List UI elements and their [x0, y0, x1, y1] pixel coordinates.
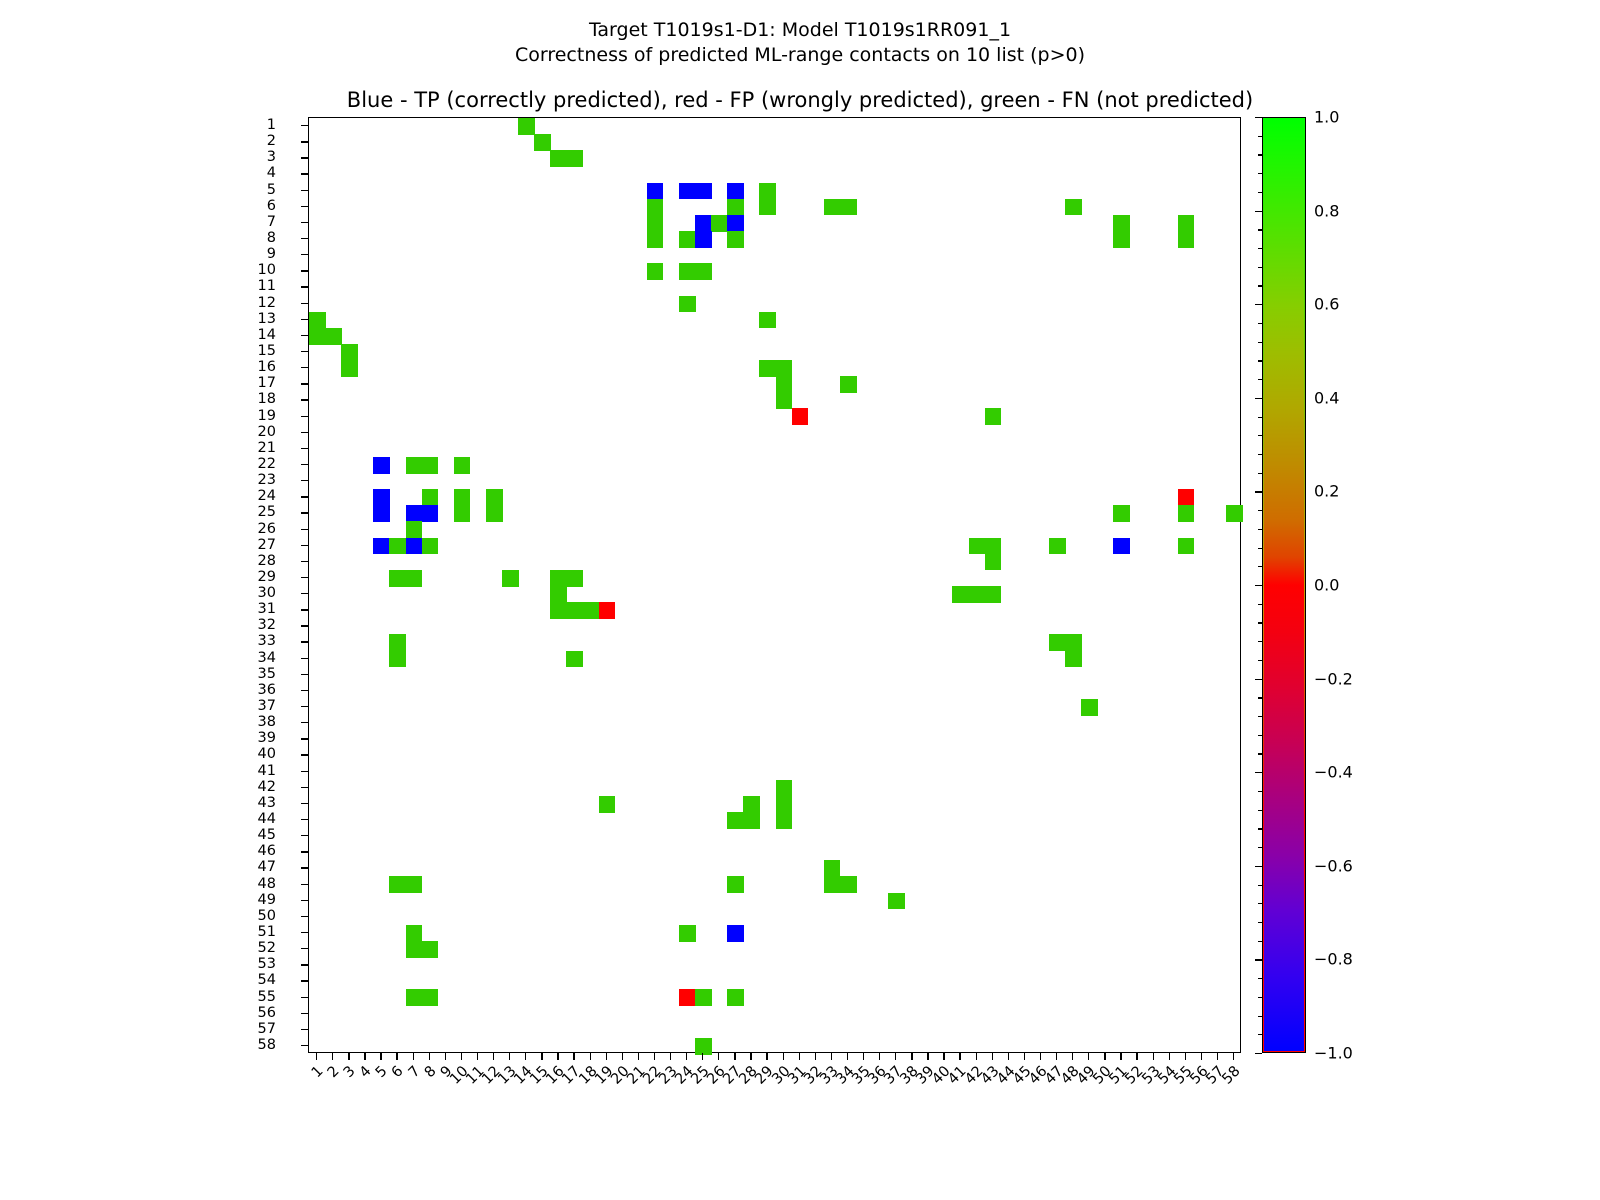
- x-tick-mark: [976, 1053, 977, 1060]
- y-tick-label: 3: [267, 150, 276, 164]
- heatmap-cell: [1178, 489, 1195, 506]
- heatmap-cell: [776, 392, 793, 409]
- colorbar-tick-mark: [1255, 679, 1262, 680]
- y-tick-label: 31: [258, 602, 276, 616]
- y-axis: 1234567891011121314151617181920212223242…: [0, 117, 308, 1053]
- heatmap-cell: [422, 538, 439, 555]
- colorbar-minor-tick: [1258, 791, 1262, 792]
- y-tick-label: 21: [258, 441, 276, 455]
- heatmap-cell: [1081, 699, 1098, 716]
- x-tick-mark: [847, 1053, 848, 1060]
- x-tick-mark: [1169, 1053, 1170, 1060]
- x-tick-mark: [702, 1053, 703, 1060]
- x-tick-mark: [413, 1053, 414, 1060]
- x-tick-mark: [1201, 1053, 1202, 1060]
- x-tick-mark: [1120, 1053, 1121, 1060]
- legend-description: Blue - TP (correctly predicted), red - F…: [0, 88, 1600, 112]
- y-tick-mark: [301, 448, 308, 449]
- y-tick-label: 56: [258, 1006, 276, 1020]
- colorbar-tick-label: 0.6: [1314, 295, 1339, 314]
- heatmap-cell: [824, 860, 841, 877]
- heatmap-cell: [550, 150, 567, 167]
- y-tick-mark: [301, 303, 308, 304]
- heatmap-cell: [647, 199, 664, 216]
- y-tick-label: 14: [258, 328, 276, 342]
- colorbar-tick-label: 1.0: [1314, 108, 1339, 127]
- heatmap-cell: [840, 876, 857, 893]
- colorbar-minor-tick: [1258, 941, 1262, 942]
- colorbar-minor-tick: [1258, 697, 1262, 698]
- colorbar-minor-tick: [1258, 660, 1262, 661]
- y-tick-label: 23: [258, 473, 276, 487]
- x-tick-mark: [1072, 1053, 1073, 1060]
- colorbar-tick-mark: [1255, 959, 1262, 960]
- x-tick-label: 8: [422, 1064, 438, 1080]
- x-tick-mark: [509, 1053, 510, 1060]
- heatmap-cell: [341, 360, 358, 377]
- heatmap-cell: [582, 602, 599, 619]
- x-tick-mark: [493, 1053, 494, 1060]
- y-tick-mark: [301, 625, 308, 626]
- x-tick-mark: [1056, 1053, 1057, 1060]
- x-tick-mark: [943, 1053, 944, 1060]
- y-tick-mark: [301, 480, 308, 481]
- y-tick-label: 51: [258, 925, 276, 939]
- y-tick-mark: [301, 867, 308, 868]
- heatmap-cell: [454, 505, 471, 522]
- heatmap-cell: [1065, 199, 1082, 216]
- colorbar-minor-tick: [1258, 136, 1262, 137]
- heatmap-cell: [1178, 231, 1195, 248]
- colorbar-minor-tick: [1258, 828, 1262, 829]
- colorbar-tick-mark: [1255, 117, 1262, 118]
- heatmap-cell: [325, 328, 342, 345]
- y-tick-label: 36: [258, 683, 276, 697]
- y-tick-mark: [301, 641, 308, 642]
- heatmap-cell: [550, 586, 567, 603]
- x-tick-mark: [766, 1053, 767, 1060]
- x-tick-mark: [1024, 1053, 1025, 1060]
- colorbar-minor-tick: [1258, 997, 1262, 998]
- y-tick-label: 5: [267, 183, 276, 197]
- y-tick-mark: [301, 609, 308, 610]
- heatmap-cell: [1049, 538, 1066, 555]
- y-tick-mark: [301, 545, 308, 546]
- colorbar-tick-mark: [1255, 398, 1262, 399]
- x-tick-mark: [364, 1053, 365, 1060]
- y-tick-label: 42: [258, 780, 276, 794]
- y-tick-label: 50: [258, 909, 276, 923]
- colorbar-minor-tick: [1258, 360, 1262, 361]
- y-tick-label: 4: [267, 166, 276, 180]
- y-tick-label: 40: [258, 747, 276, 761]
- y-tick-mark: [301, 464, 308, 465]
- heatmap-cell: [422, 941, 439, 958]
- colorbar-minor-tick: [1258, 735, 1262, 736]
- y-tick-mark: [301, 190, 308, 191]
- x-tick-mark: [1104, 1053, 1105, 1060]
- heatmap-cell: [422, 505, 439, 522]
- x-tick-mark: [622, 1053, 623, 1060]
- heatmap-cell: [695, 263, 712, 280]
- x-tick-mark: [525, 1053, 526, 1060]
- heatmap-cell: [985, 538, 1002, 555]
- colorbar-minor-tick: [1258, 1034, 1262, 1035]
- heatmap-cell: [566, 651, 583, 668]
- heatmap-cell: [695, 215, 712, 232]
- heatmap-cell: [776, 812, 793, 829]
- y-tick-mark: [301, 561, 308, 562]
- heatmap-cell: [679, 296, 696, 313]
- colorbar-minor-tick: [1258, 548, 1262, 549]
- y-tick-mark: [301, 141, 308, 142]
- x-tick-label: 6: [390, 1064, 406, 1080]
- colorbar-minor-tick: [1258, 753, 1262, 754]
- heatmap-cell: [776, 360, 793, 377]
- x-tick-mark: [1185, 1053, 1186, 1060]
- x-tick-label: 5: [374, 1064, 390, 1080]
- heatmap-cell: [373, 538, 390, 555]
- x-tick-mark: [1217, 1053, 1218, 1060]
- y-tick-mark: [301, 125, 308, 126]
- y-tick-mark: [301, 1045, 308, 1046]
- y-tick-mark: [301, 529, 308, 530]
- title-line-1: Target T1019s1-D1: Model T1019s1RR091_1: [0, 18, 1600, 43]
- x-tick-mark: [316, 1053, 317, 1060]
- heatmap-cell: [406, 457, 423, 474]
- y-tick-mark: [301, 1029, 308, 1030]
- x-tick-mark: [1088, 1053, 1089, 1060]
- y-tick-mark: [301, 819, 308, 820]
- y-tick-label: 8: [267, 231, 276, 245]
- y-tick-mark: [301, 964, 308, 965]
- y-tick-label: 1: [267, 118, 276, 132]
- y-tick-label: 35: [258, 667, 276, 681]
- colorbar-minor-tick: [1258, 903, 1262, 904]
- colorbar-tick-mark: [1255, 304, 1262, 305]
- colorbar-tick-label: −0.2: [1314, 669, 1353, 688]
- heatmap-cell: [952, 586, 969, 603]
- y-tick-label: 29: [258, 570, 276, 584]
- heatmap-cell: [550, 570, 567, 587]
- heatmap-cell: [406, 521, 423, 538]
- colorbar-minor-tick: [1258, 922, 1262, 923]
- x-tick-mark: [654, 1053, 655, 1060]
- heatmap-cell: [389, 651, 406, 668]
- heatmap-cell: [679, 925, 696, 942]
- heatmap-cell: [840, 199, 857, 216]
- colorbar-minor-tick: [1258, 192, 1262, 193]
- heatmap-cell: [727, 231, 744, 248]
- x-tick-label: 7: [406, 1064, 422, 1080]
- x-tick-mark: [590, 1053, 591, 1060]
- heatmap-cell: [406, 570, 423, 587]
- heatmap-cell: [422, 457, 439, 474]
- y-tick-label: 53: [258, 957, 276, 971]
- heatmap-cell: [341, 344, 358, 361]
- heatmap-cell: [679, 183, 696, 200]
- y-tick-label: 41: [258, 764, 276, 778]
- x-tick-mark: [734, 1053, 735, 1060]
- y-tick-mark: [301, 771, 308, 772]
- heatmap-cell: [406, 925, 423, 942]
- heatmap-cell: [776, 796, 793, 813]
- y-tick-label: 38: [258, 715, 276, 729]
- colorbar-minor-tick: [1258, 622, 1262, 623]
- colorbar-tick-label: 0.8: [1314, 201, 1339, 220]
- heatmap-cell: [985, 586, 1002, 603]
- heatmap-cell: [888, 893, 905, 910]
- y-tick-label: 16: [258, 360, 276, 374]
- y-tick-label: 28: [258, 554, 276, 568]
- colorbar-tick-mark: [1255, 866, 1262, 867]
- heatmap-cell: [599, 602, 616, 619]
- colorbar-minor-tick: [1258, 473, 1262, 474]
- y-tick-label: 32: [258, 618, 276, 632]
- x-tick-label: 2: [326, 1064, 342, 1080]
- heatmap-cell: [309, 328, 326, 345]
- y-tick-mark: [301, 851, 308, 852]
- heatmap-cell: [373, 489, 390, 506]
- x-tick-mark: [396, 1053, 397, 1060]
- y-tick-mark: [301, 787, 308, 788]
- colorbar-minor-tick: [1258, 604, 1262, 605]
- heatmap-cell: [985, 408, 1002, 425]
- chart-title-block: Target T1019s1-D1: Model T1019s1RR091_1 …: [0, 18, 1600, 68]
- x-tick-label: 58: [1220, 1064, 1243, 1087]
- colorbar-minor-tick: [1258, 323, 1262, 324]
- y-tick-label: 7: [267, 215, 276, 229]
- colorbar: 1.00.80.60.40.20.0−0.2−0.4−0.6−0.8−1.0: [1262, 117, 1306, 1053]
- y-tick-mark: [301, 157, 308, 158]
- x-tick-mark: [831, 1053, 832, 1060]
- heatmap-cell: [727, 215, 744, 232]
- x-tick-mark: [638, 1053, 639, 1060]
- heatmap-cell: [727, 199, 744, 216]
- y-tick-mark: [301, 254, 308, 255]
- heatmap-cell: [373, 505, 390, 522]
- colorbar-tick-label: 0.0: [1314, 576, 1339, 595]
- y-tick-label: 49: [258, 893, 276, 907]
- colorbar-tick-mark: [1255, 585, 1262, 586]
- heatmap-cells: [309, 118, 1240, 1052]
- heatmap-cell: [1065, 634, 1082, 651]
- y-tick-label: 12: [258, 296, 276, 310]
- y-tick-label: 9: [267, 247, 276, 261]
- x-tick-mark: [1153, 1053, 1154, 1060]
- heatmap-cell: [1113, 231, 1130, 248]
- y-tick-label: 18: [258, 392, 276, 406]
- y-tick-label: 13: [258, 312, 276, 326]
- y-tick-mark: [301, 754, 308, 755]
- x-tick-mark: [1136, 1053, 1137, 1060]
- y-tick-label: 22: [258, 457, 276, 471]
- y-tick-mark: [301, 512, 308, 513]
- colorbar-minor-tick: [1258, 641, 1262, 642]
- heatmap-cell: [454, 457, 471, 474]
- heatmap-cell: [389, 876, 406, 893]
- y-tick-mark: [301, 997, 308, 998]
- y-tick-label: 57: [258, 1022, 276, 1036]
- colorbar-tick-label: −1.0: [1314, 1044, 1353, 1063]
- y-tick-label: 54: [258, 973, 276, 987]
- y-tick-label: 43: [258, 796, 276, 810]
- heatmap-cell: [792, 408, 809, 425]
- heatmap-cell: [389, 634, 406, 651]
- colorbar-minor-tick: [1258, 154, 1262, 155]
- heatmap-cell: [679, 989, 696, 1006]
- y-tick-mark: [301, 432, 308, 433]
- heatmap-cell: [502, 570, 519, 587]
- heatmap-cell: [776, 376, 793, 393]
- y-tick-mark: [301, 1013, 308, 1014]
- y-tick-mark: [301, 222, 308, 223]
- heatmap-cell: [454, 489, 471, 506]
- heatmap-cell: [985, 554, 1002, 571]
- title-line-2: Correctness of predicted ML-range contac…: [0, 43, 1600, 68]
- y-tick-mark: [301, 658, 308, 659]
- heatmap-cell: [406, 876, 423, 893]
- x-tick-mark: [606, 1053, 607, 1060]
- x-tick-mark: [557, 1053, 558, 1060]
- heatmap-cell: [727, 876, 744, 893]
- y-tick-label: 27: [258, 538, 276, 552]
- heatmap-cell: [309, 312, 326, 329]
- colorbar-minor-tick: [1258, 342, 1262, 343]
- y-tick-mark: [301, 690, 308, 691]
- colorbar-minor-tick: [1258, 454, 1262, 455]
- heatmap-cell: [679, 231, 696, 248]
- y-tick-mark: [301, 206, 308, 207]
- y-tick-mark: [301, 399, 308, 400]
- heatmap-cell: [759, 183, 776, 200]
- colorbar-tick-label: −0.6: [1314, 856, 1353, 875]
- y-tick-label: 26: [258, 522, 276, 536]
- colorbar-minor-tick: [1258, 229, 1262, 230]
- heatmap-cell: [373, 457, 390, 474]
- colorbar-minor-tick: [1258, 810, 1262, 811]
- y-tick-mark: [301, 416, 308, 417]
- heatmap-cell: [727, 989, 744, 1006]
- x-tick-mark: [959, 1053, 960, 1060]
- heatmap-cell: [1049, 634, 1066, 651]
- heatmap-cell: [679, 263, 696, 280]
- y-tick-mark: [301, 319, 308, 320]
- x-tick-mark: [1008, 1053, 1009, 1060]
- colorbar-minor-tick: [1258, 529, 1262, 530]
- heatmap-cell: [599, 796, 616, 813]
- y-tick-label: 17: [258, 376, 276, 390]
- y-tick-label: 30: [258, 586, 276, 600]
- colorbar-minor-tick: [1258, 379, 1262, 380]
- heatmap-cell: [406, 538, 423, 555]
- x-tick-mark: [992, 1053, 993, 1060]
- y-tick-mark: [301, 948, 308, 949]
- heatmap-cell: [776, 780, 793, 797]
- heatmap-cell: [695, 231, 712, 248]
- y-tick-label: 44: [258, 812, 276, 826]
- x-tick-label: 4: [358, 1064, 374, 1080]
- x-tick-mark: [380, 1053, 381, 1060]
- heatmap-cell: [1178, 215, 1195, 232]
- y-tick-mark: [301, 932, 308, 933]
- y-tick-label: 55: [258, 990, 276, 1004]
- heatmap-cell: [647, 231, 664, 248]
- x-axis: 1234567891011121314151617181920212223242…: [308, 1053, 1241, 1200]
- colorbar-minor-tick: [1258, 978, 1262, 979]
- colorbar-minor-tick: [1258, 716, 1262, 717]
- colorbar-tick-mark: [1255, 211, 1262, 212]
- heatmap-cell: [727, 925, 744, 942]
- heatmap-cell: [1226, 505, 1243, 522]
- heatmap-cell: [1113, 538, 1130, 555]
- colorbar-minor-tick: [1258, 1016, 1262, 1017]
- heatmap-cell: [711, 215, 728, 232]
- heatmap-cell: [534, 134, 551, 151]
- heatmap-cell: [406, 989, 423, 1006]
- y-tick-mark: [301, 286, 308, 287]
- y-tick-mark: [301, 383, 308, 384]
- x-tick-mark: [783, 1053, 784, 1060]
- colorbar-minor-tick: [1258, 510, 1262, 511]
- heatmap-cell: [824, 876, 841, 893]
- heatmap-cell: [566, 150, 583, 167]
- y-tick-mark: [301, 722, 308, 723]
- y-tick-label: 48: [258, 877, 276, 891]
- colorbar-minor-tick: [1258, 267, 1262, 268]
- y-tick-label: 6: [267, 199, 276, 213]
- heatmap-cell: [743, 812, 760, 829]
- heatmap-cell: [518, 118, 535, 135]
- colorbar-minor-tick: [1258, 435, 1262, 436]
- heatmap-cell: [695, 183, 712, 200]
- heatmap-cell: [727, 812, 744, 829]
- colorbar-gradient-fill: [1264, 119, 1304, 1051]
- colorbar-tick-label: −0.4: [1314, 763, 1353, 782]
- x-tick-mark: [815, 1053, 816, 1060]
- heatmap-cell: [840, 376, 857, 393]
- heatmap-cell: [1178, 538, 1195, 555]
- x-tick-mark: [927, 1053, 928, 1060]
- y-tick-label: 46: [258, 844, 276, 858]
- y-tick-mark: [301, 496, 308, 497]
- x-tick-mark: [863, 1053, 864, 1060]
- colorbar-tick-mark: [1255, 772, 1262, 773]
- x-tick-mark: [1040, 1053, 1041, 1060]
- heatmap-cell: [389, 570, 406, 587]
- y-tick-mark: [301, 577, 308, 578]
- y-tick-label: 25: [258, 505, 276, 519]
- heatmap-cell: [486, 505, 503, 522]
- x-tick-mark: [445, 1053, 446, 1060]
- heatmap-cell: [647, 183, 664, 200]
- contact-map-plot: [308, 117, 1241, 1053]
- y-tick-mark: [301, 980, 308, 981]
- x-tick-mark: [541, 1053, 542, 1060]
- y-tick-label: 47: [258, 860, 276, 874]
- x-tick-label: 3: [342, 1064, 358, 1080]
- colorbar-tick-label: 0.2: [1314, 482, 1339, 501]
- y-tick-mark: [301, 238, 308, 239]
- heatmap-cell: [1178, 505, 1195, 522]
- colorbar-minor-tick: [1258, 173, 1262, 174]
- x-tick-mark: [461, 1053, 462, 1060]
- heatmap-cell: [550, 602, 567, 619]
- y-tick-mark: [301, 335, 308, 336]
- y-tick-mark: [301, 900, 308, 901]
- heatmap-cell: [695, 989, 712, 1006]
- colorbar-tick-label: −0.8: [1314, 950, 1353, 969]
